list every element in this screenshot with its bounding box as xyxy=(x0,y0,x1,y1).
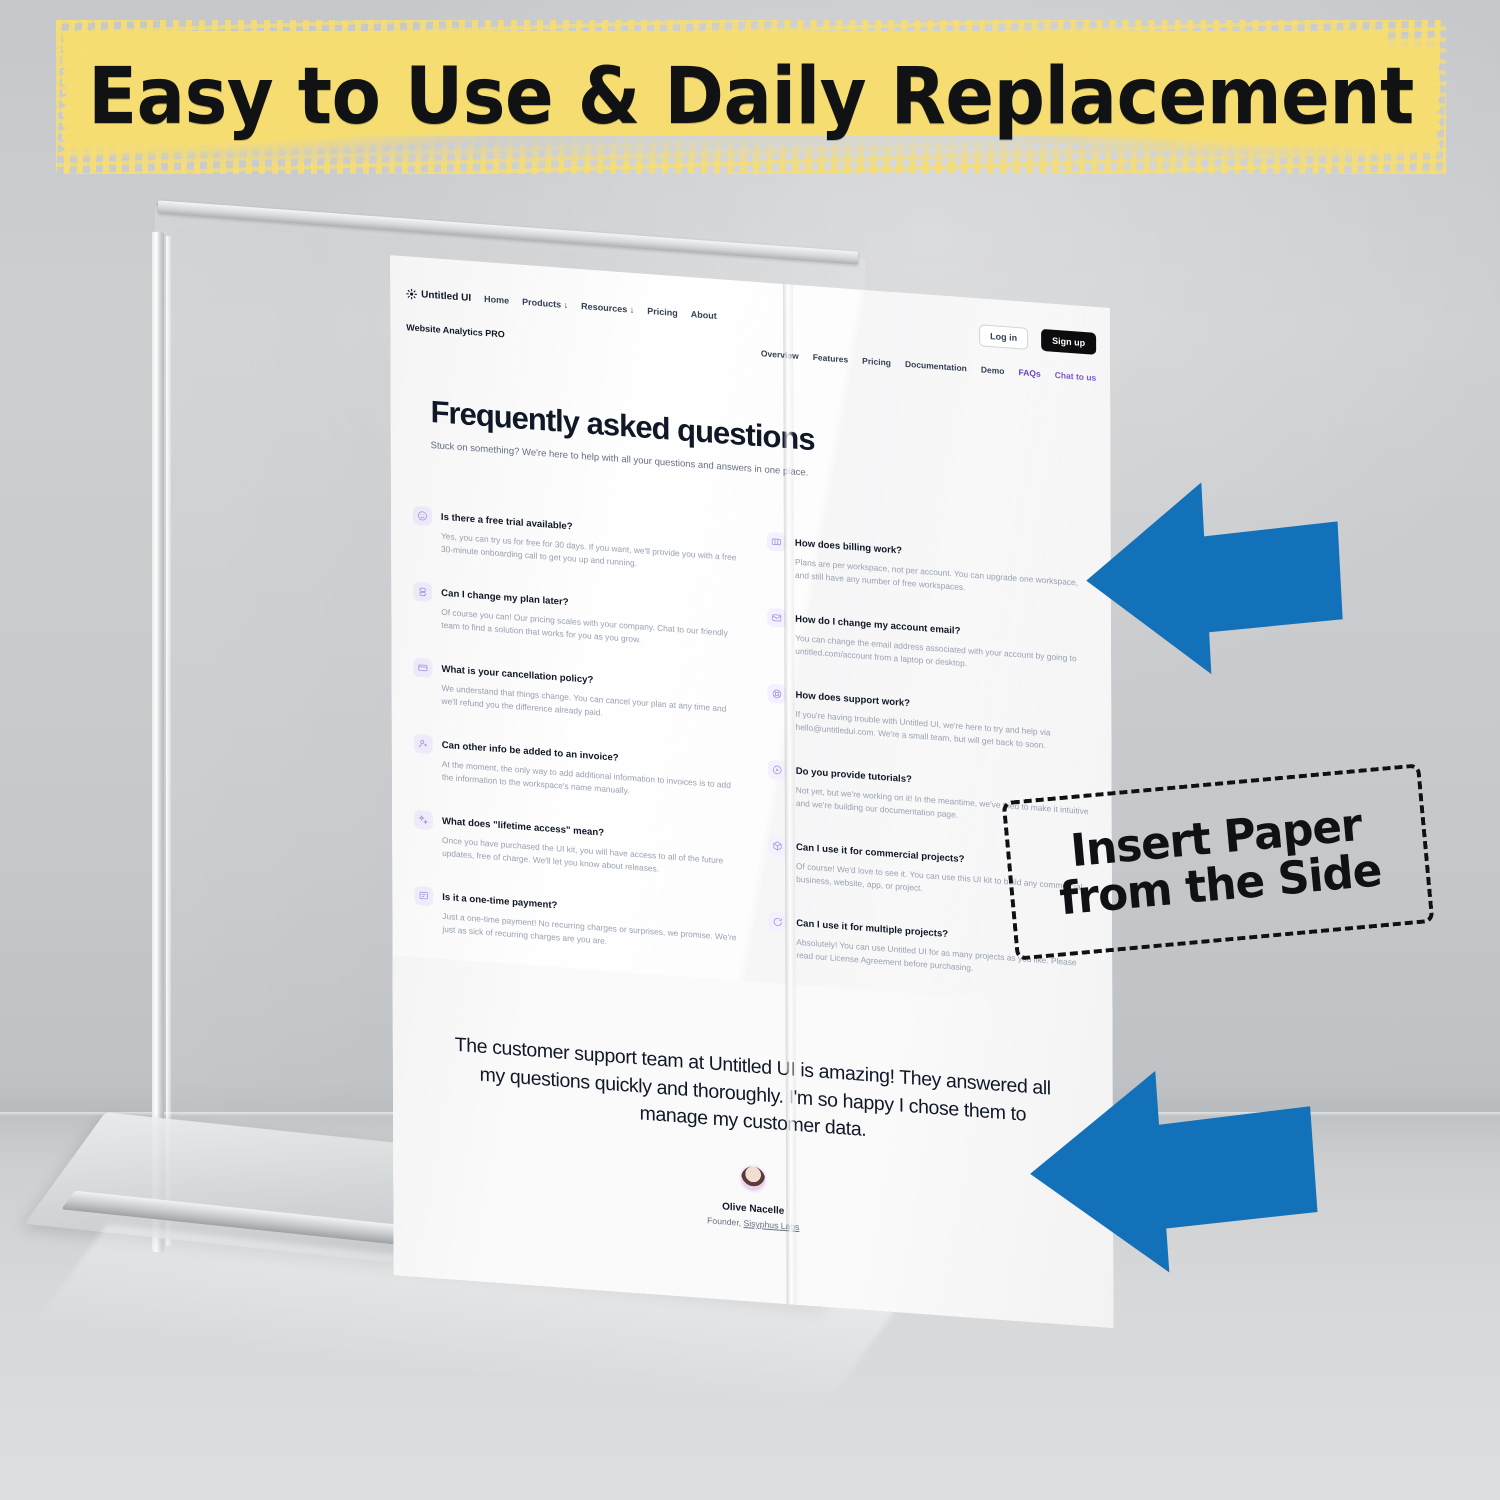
brand-name: Untitled UI xyxy=(421,289,471,304)
acrylic-left-highlight xyxy=(166,236,171,1246)
stack-icon xyxy=(413,582,432,602)
faq-answer: Just a one-time payment! No recurring ch… xyxy=(442,910,738,958)
faq-item[interactable]: What is your cancellation policy? We und… xyxy=(413,657,737,730)
product-name-label: Website Analytics PRO xyxy=(406,322,505,339)
subnav-item-demo[interactable]: Demo xyxy=(981,364,1005,376)
faq-item[interactable]: Can other info be added to an invoice? A… xyxy=(414,733,738,806)
faq-question: How does billing work? xyxy=(795,538,902,557)
testimonial-role-prefix: Founder, xyxy=(707,1215,743,1228)
faq-question: Can I change my plan later? xyxy=(441,588,568,608)
gear-icon xyxy=(406,288,417,300)
headline-banner: Easy to Use & Daily Replacement xyxy=(62,26,1440,168)
faq-answer: Plans are per workspace, not per account… xyxy=(795,556,1091,604)
subnav-item-pricing[interactable]: Pricing xyxy=(862,356,891,368)
subnav-item-features[interactable]: Features xyxy=(813,352,848,365)
faq-columns: Is there a free trial available? Yes, yo… xyxy=(413,505,1092,984)
receipt-icon xyxy=(414,886,433,906)
faq-question: Do you provide tutorials? xyxy=(796,766,912,786)
subnav-item-documentation[interactable]: Documentation xyxy=(905,359,967,374)
left-arrow-icon xyxy=(1014,1042,1329,1292)
faq-answer: Once you have purchased the UI kit, you … xyxy=(442,834,738,882)
faq-answer: Of course you can! Our pricing scales wi… xyxy=(441,606,737,654)
faq-item[interactable]: Is it a one-time payment? Just a one-tim… xyxy=(414,885,738,958)
signup-button[interactable]: Sign up xyxy=(1041,329,1096,355)
faq-webpage-printout: Untitled UI Home Products ↓ Resources ↓ … xyxy=(390,255,1114,1328)
faq-answer: At the moment, the only way to add addit… xyxy=(442,758,738,806)
faq-question: Is there a free trial available? xyxy=(441,512,573,533)
nav-spacer xyxy=(730,317,966,334)
faq-item[interactable]: How does support work? If you're having … xyxy=(767,683,1091,756)
user-plus-icon xyxy=(414,734,433,754)
faq-answer: You can change the email address associa… xyxy=(795,632,1091,680)
headline-text: Easy to Use & Daily Replacement xyxy=(117,26,1385,168)
faq-answer: We understand that things change. You ca… xyxy=(441,682,737,730)
brand-logo[interactable]: Untitled UI xyxy=(406,288,471,304)
nav-item-products[interactable]: Products ↓ xyxy=(522,297,568,310)
chevron-down-icon: ↓ xyxy=(630,305,635,315)
testimonial-quote: The customer support team at Untitled UI… xyxy=(447,1031,1059,1159)
acrylic-left-edge xyxy=(152,232,164,1253)
faq-item[interactable]: Is there a free trial available? Yes, yo… xyxy=(413,505,737,578)
subnav-spacer xyxy=(519,335,747,352)
chat-to-us-link[interactable]: Chat to us xyxy=(1055,370,1097,383)
left-arrow-icon xyxy=(1072,455,1351,689)
faq-question: Is it a one-time payment? xyxy=(442,892,557,911)
nav-item-home[interactable]: Home xyxy=(484,294,509,306)
faq-item[interactable]: How does billing work? Plans are per wor… xyxy=(767,531,1091,604)
callout-text: Insert Paper from the Side xyxy=(1053,801,1383,923)
faq-answer: Yes, you can try us for free for 30 days… xyxy=(441,530,737,578)
arrow-pointer-bottom xyxy=(1014,1042,1329,1292)
sparkle-icon xyxy=(414,810,433,830)
faq-question: How does support work? xyxy=(795,690,910,709)
site-top-navigation: Untitled UI Home Products ↓ Resources ↓ … xyxy=(406,282,1096,355)
avatar xyxy=(739,1164,767,1194)
faq-item[interactable]: How do I change my account email? You ca… xyxy=(767,607,1091,680)
testimonial-section: The customer support team at Untitled UI… xyxy=(392,955,1113,1328)
faq-answer: If you're having trouble with Untitled U… xyxy=(795,708,1091,756)
faq-item[interactable]: What does "lifetime access" mean? Once y… xyxy=(414,809,738,882)
faq-column-left: Is there a free trial available? Yes, yo… xyxy=(413,505,738,958)
credit-card-icon xyxy=(413,658,432,678)
nav-item-about[interactable]: About xyxy=(691,309,717,321)
login-button[interactable]: Log in xyxy=(979,324,1028,350)
subnav-item-faqs[interactable]: FAQs xyxy=(1018,367,1040,379)
inserted-paper-sheet: Untitled UI Home Products ↓ Resources ↓ … xyxy=(390,255,1110,1275)
nav-item-resources[interactable]: Resources ↓ xyxy=(581,301,634,315)
smiley-icon xyxy=(413,506,432,526)
faq-hero: Frequently asked questions Stuck on some… xyxy=(430,396,1070,498)
nav-item-pricing[interactable]: Pricing xyxy=(647,306,678,318)
arrow-pointer-top xyxy=(1072,455,1351,689)
chevron-down-icon: ↓ xyxy=(564,300,569,310)
faq-item[interactable]: Can I change my plan later? Of course yo… xyxy=(413,581,737,654)
